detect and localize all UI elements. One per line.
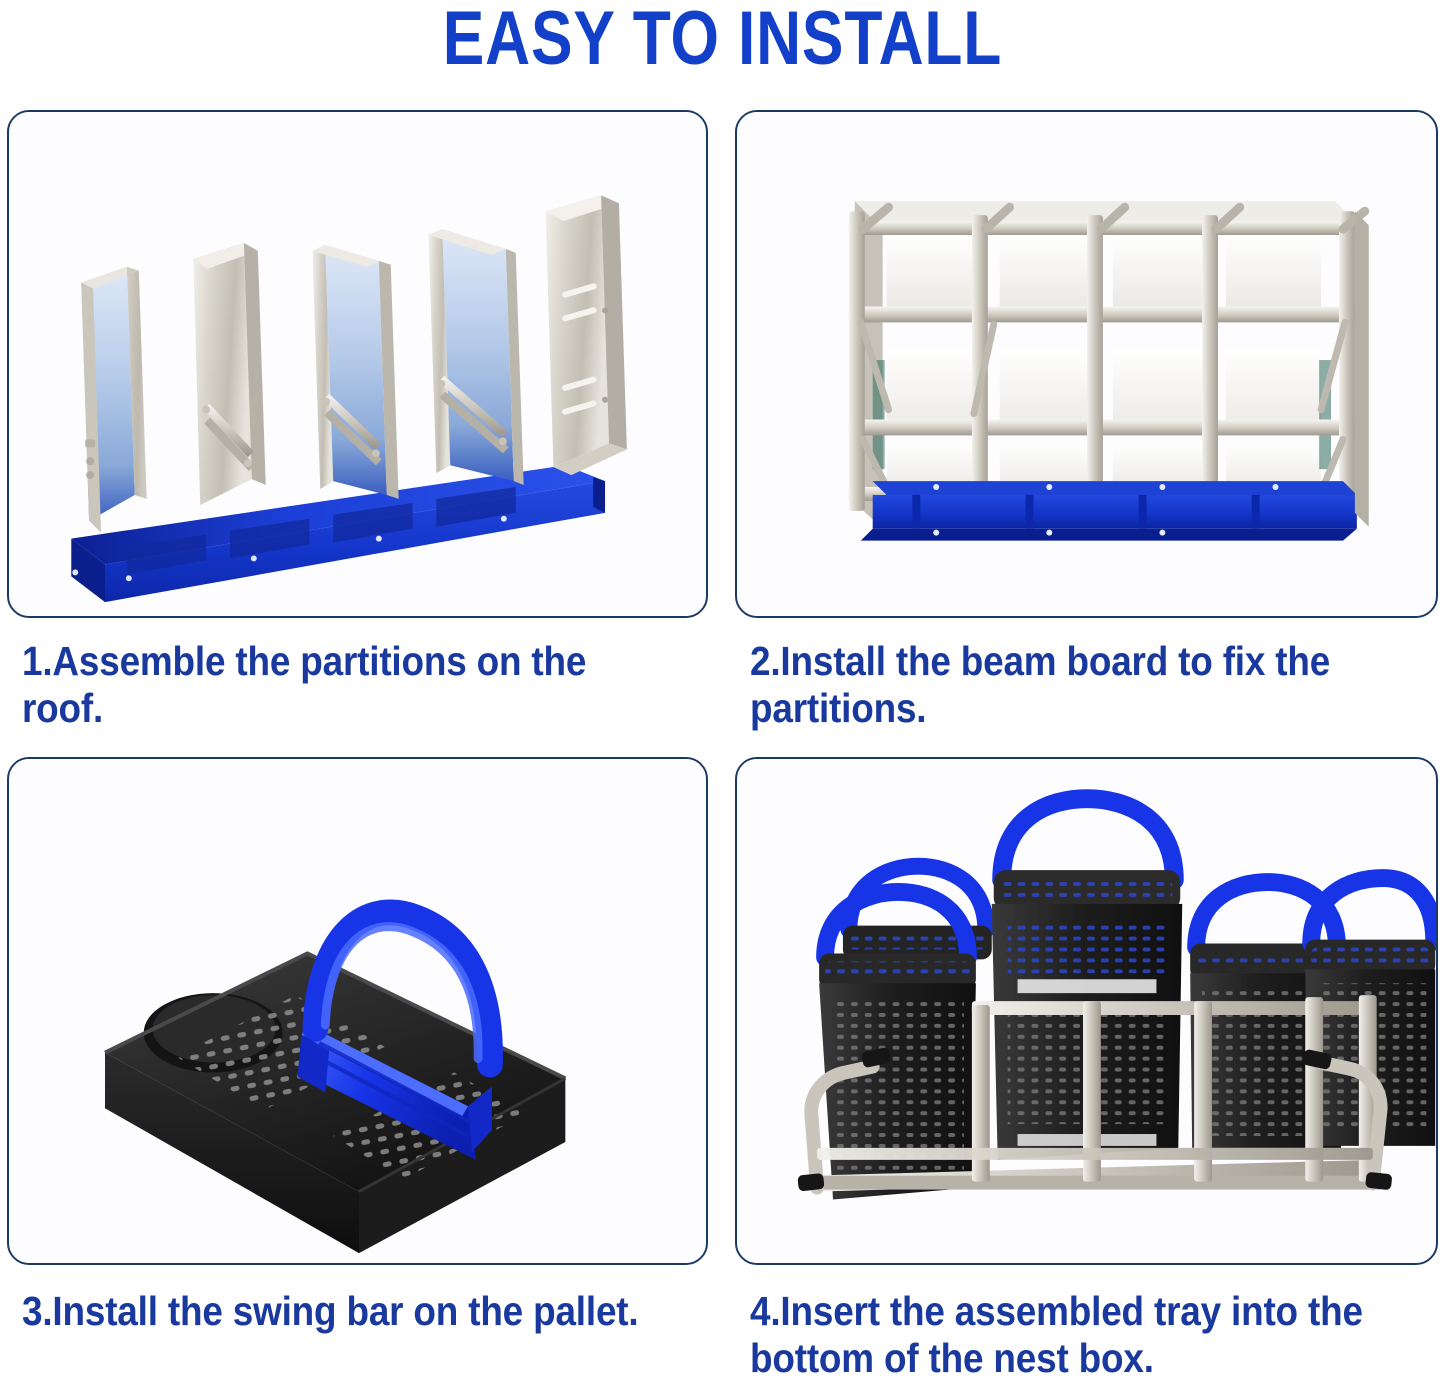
step-2-illustration: [737, 112, 1436, 616]
easy-to-install-infographic: EASY TO INSTALL: [0, 0, 1445, 1387]
step-1-illustration: [9, 112, 706, 616]
step-2-caption: 2.Install the beam board to fix the part…: [750, 638, 1380, 732]
step-4-caption: 4.Insert the assembled tray into the bot…: [750, 1288, 1380, 1382]
page-title: EASY TO INSTALL: [130, 0, 1315, 84]
step-4-illustration: [737, 759, 1436, 1263]
step-3-caption: 3.Install the swing bar on the pallet.: [22, 1288, 652, 1335]
step-2-image-panel: [735, 110, 1438, 618]
step-1-image-panel: [7, 110, 708, 618]
step-1-caption: 1.Assemble the partitions on the roof.: [22, 638, 652, 732]
step-4-image-panel: [735, 757, 1438, 1265]
step-3-image-panel: [7, 757, 708, 1265]
step-3-illustration: [9, 759, 706, 1263]
